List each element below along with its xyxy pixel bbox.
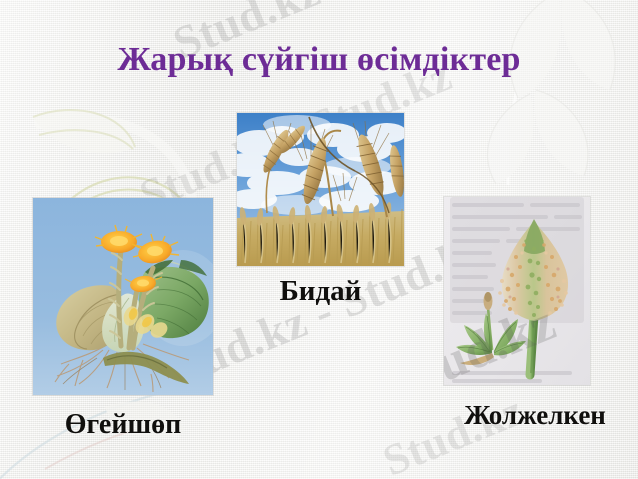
coltsfoot-botanical-illustration bbox=[33, 198, 213, 395]
image-coltsfoot bbox=[33, 198, 213, 395]
caption-plantain: Жолжелкен bbox=[440, 400, 630, 431]
image-wheat bbox=[237, 113, 404, 266]
caption-coltsfoot: Өгейшөп bbox=[33, 409, 213, 441]
slide-title: Жарық сүйгіш өсімдіктер bbox=[0, 40, 638, 80]
slide-canvas: Stud.kz Stud.kz - Stud.kz Stud.kz - Stud… bbox=[0, 0, 638, 479]
watermark-text: Stud.kz bbox=[376, 384, 531, 479]
caption-wheat: Бидай bbox=[237, 275, 404, 308]
wheat-field-photo bbox=[237, 113, 404, 266]
plantain-book-scan: ud.kz bbox=[444, 197, 590, 385]
image-plantain: ud.kz bbox=[444, 197, 590, 385]
